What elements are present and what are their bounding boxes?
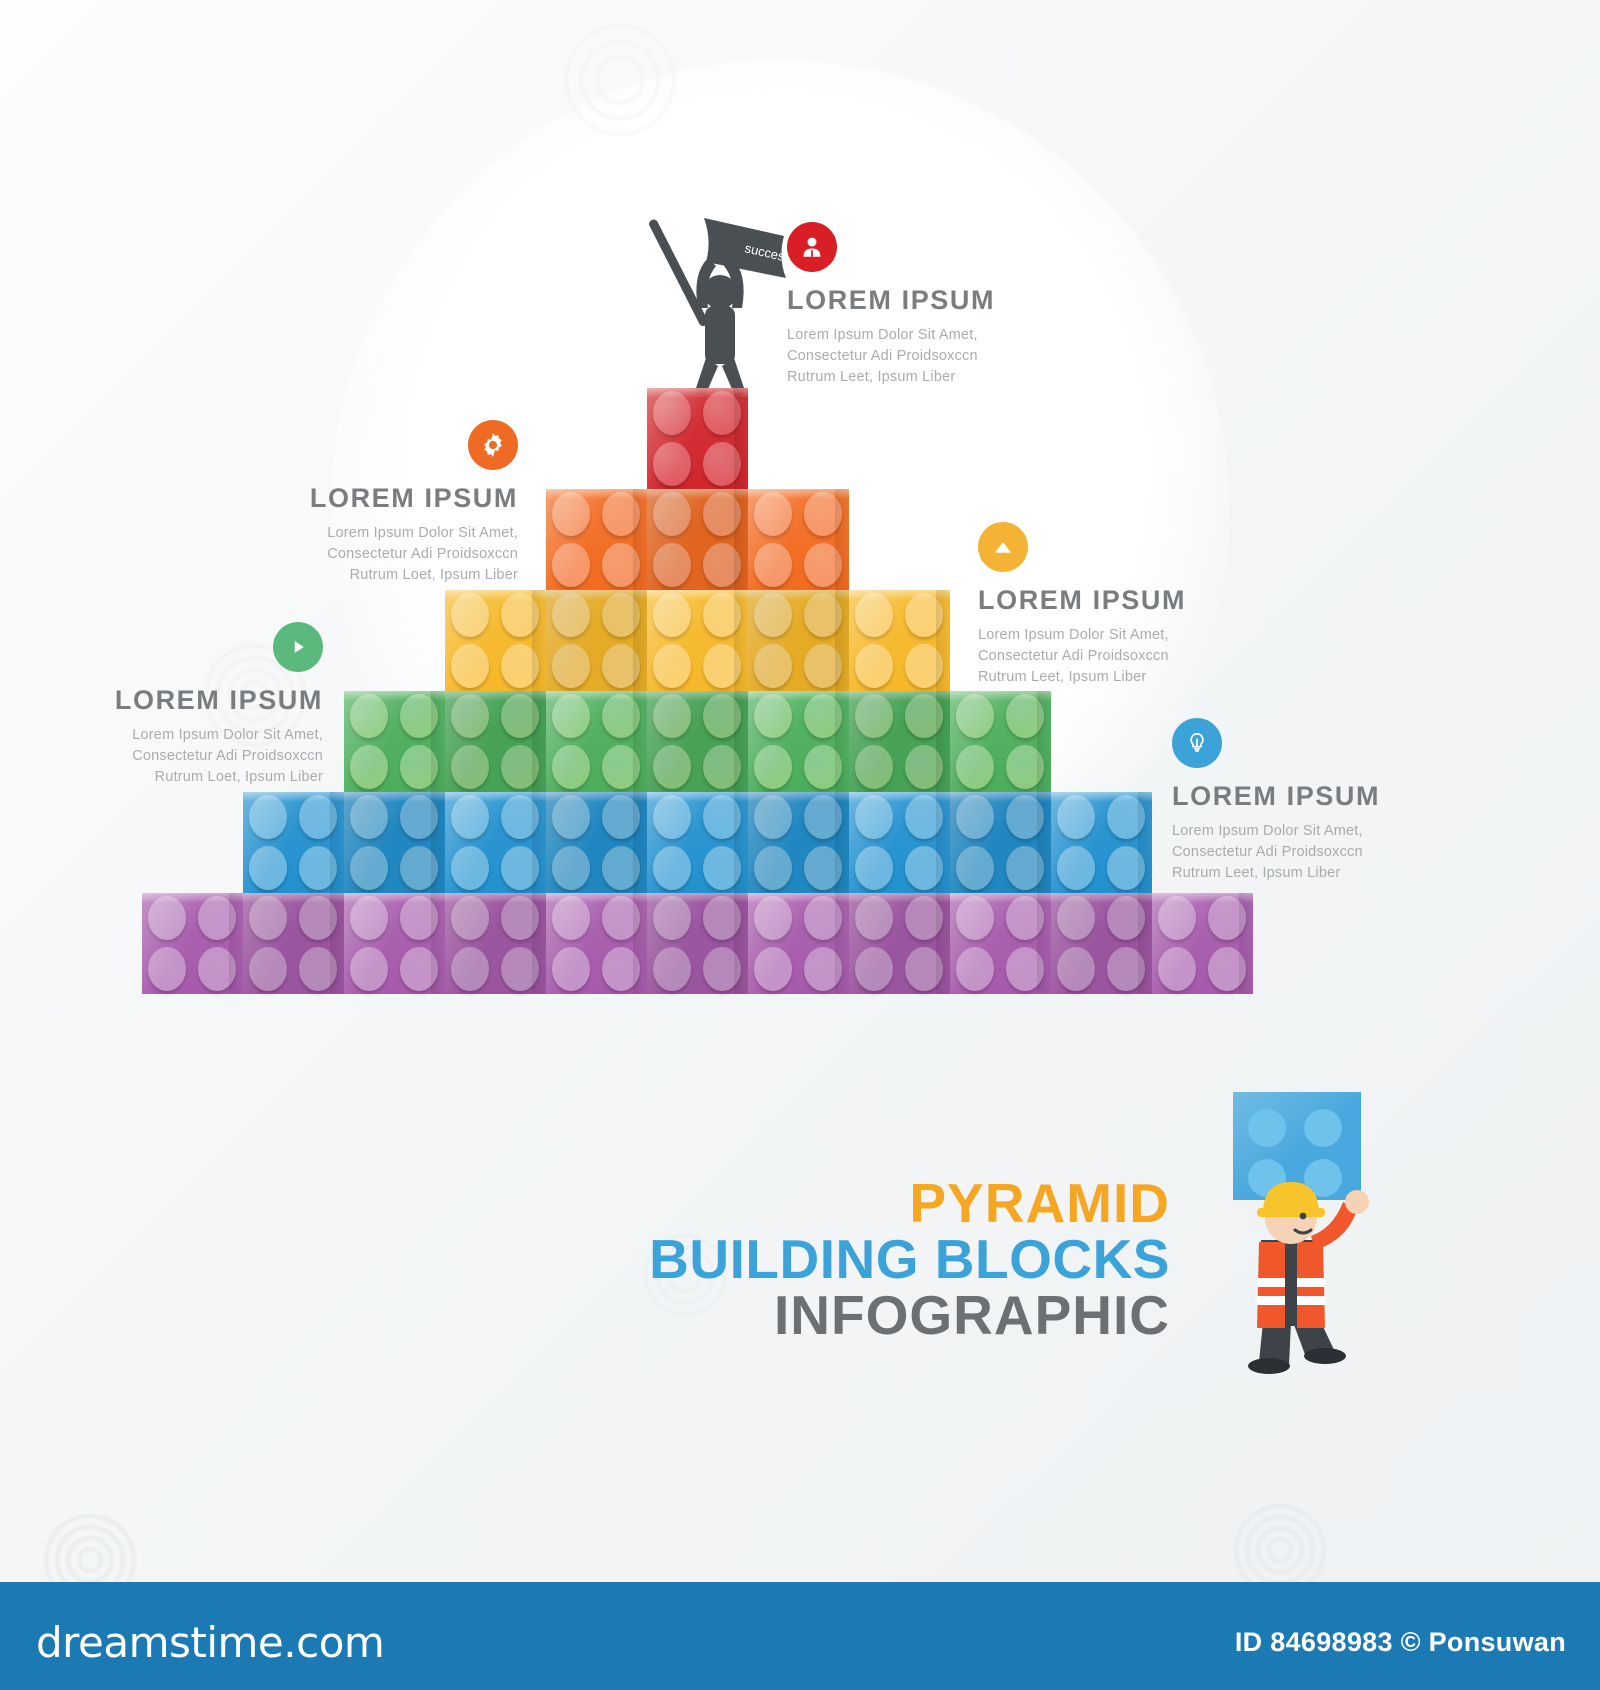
- brick-stud: [1057, 947, 1095, 991]
- title-block: PYRAMID BUILDING BLOCKS INFOGRAPHIC: [649, 1175, 1170, 1343]
- brick-stud: [350, 745, 388, 789]
- brick-edge: [734, 893, 748, 994]
- brick-edge: [633, 792, 647, 893]
- brick-stud: [249, 846, 287, 890]
- brick-edge: [633, 489, 647, 590]
- brick-edge: [532, 691, 546, 792]
- brick-stud: [754, 846, 792, 890]
- lego-brick[interactable]: [748, 590, 849, 691]
- brick-edge: [229, 893, 243, 994]
- lego-brick[interactable]: [950, 691, 1051, 792]
- brick-stud: [451, 745, 489, 789]
- lego-brick[interactable]: [647, 792, 748, 893]
- brick-top-lip: [950, 792, 1051, 802]
- lego-brick[interactable]: [950, 792, 1051, 893]
- callout-mid-right[interactable]: LOREM IPSUM Lorem Ipsum Dolor Sit Amet, …: [978, 522, 1196, 688]
- pyramid-row-3: [445, 590, 950, 691]
- brick-edge: [734, 388, 748, 489]
- person-icon: [787, 222, 837, 272]
- brick-edge: [633, 893, 647, 994]
- brick-top-lip: [849, 893, 950, 903]
- title-line-pyramid: PYRAMID: [649, 1175, 1170, 1231]
- callout-title: LOREM IPSUM: [787, 286, 1002, 316]
- title-line-building-blocks: BUILDING BLOCKS: [649, 1231, 1170, 1287]
- brick-stud: [653, 543, 691, 587]
- brick-stud: [653, 947, 691, 991]
- brick-stud: [956, 745, 994, 789]
- gear-icon: [468, 420, 518, 470]
- brick-stud: [451, 947, 489, 991]
- brick-stud: [451, 846, 489, 890]
- brick-edge: [431, 691, 445, 792]
- brick-edge: [431, 893, 445, 994]
- brick-edge: [936, 691, 950, 792]
- brick-top-lip: [950, 691, 1051, 701]
- lego-brick[interactable]: [445, 893, 546, 994]
- brick-edge: [835, 590, 849, 691]
- brick-top-lip: [546, 489, 647, 499]
- brick-stud: [552, 846, 590, 890]
- brick-top-lip: [647, 792, 748, 802]
- title-line-infographic: INFOGRAPHIC: [649, 1287, 1170, 1343]
- brick-top-lip: [950, 893, 1051, 903]
- lego-brick[interactable]: [445, 691, 546, 792]
- brick-stud: [451, 644, 489, 688]
- brick-stud: [956, 846, 994, 890]
- lego-brick[interactable]: [344, 893, 445, 994]
- lego-brick[interactable]: [950, 893, 1051, 994]
- lego-brick[interactable]: [344, 691, 445, 792]
- brick-edge: [532, 792, 546, 893]
- brick-top-lip: [849, 590, 950, 600]
- callout-body: Lorem Ipsum Dolor Sit Amet, Consectetur …: [1172, 821, 1390, 884]
- brick-edge: [734, 590, 748, 691]
- lego-brick[interactable]: [546, 691, 647, 792]
- brick-stud: [653, 644, 691, 688]
- brick-edge: [431, 792, 445, 893]
- callout-top-right[interactable]: LOREM IPSUM Lorem Ipsum Dolor Sit Amet, …: [787, 222, 1002, 388]
- lego-brick[interactable]: [546, 590, 647, 691]
- brick-stud: [653, 745, 691, 789]
- lego-brick[interactable]: [647, 893, 748, 994]
- lego-brick[interactable]: [849, 893, 950, 994]
- pyramid-row-1: [647, 388, 748, 489]
- brick-top-lip: [445, 893, 546, 903]
- brick-top-lip: [546, 792, 647, 802]
- brick-top-lip: [748, 792, 849, 802]
- dreamstime-logo[interactable]: dreamstime.com: [36, 1618, 384, 1667]
- lego-brick[interactable]: [344, 792, 445, 893]
- callout-title: LOREM IPSUM: [978, 586, 1196, 616]
- lego-brick[interactable]: [748, 691, 849, 792]
- brick-stud: [653, 846, 691, 890]
- brick-top-lip: [243, 893, 344, 903]
- brick-top-lip: [445, 590, 546, 600]
- brick-top-lip: [748, 590, 849, 600]
- brick-edge: [330, 792, 344, 893]
- lego-brick[interactable]: [647, 691, 748, 792]
- brick-edge: [330, 893, 344, 994]
- brick-edge: [835, 893, 849, 994]
- brick-edge: [633, 691, 647, 792]
- play-icon: [273, 622, 323, 672]
- callout-lower-right[interactable]: LOREM IPSUM Lorem Ipsum Dolor Sit Amet, …: [1172, 718, 1390, 884]
- callout-body: Lorem Ipsum Dolor Sit Amet, Consectetur …: [978, 625, 1196, 688]
- lightbulb-icon: [1172, 718, 1222, 768]
- pyramid-row-6: [142, 893, 1253, 994]
- lego-brick[interactable]: [243, 792, 344, 893]
- brick-stud: [552, 947, 590, 991]
- pyramid-row-2: [546, 489, 849, 590]
- brick-top-lip: [647, 691, 748, 701]
- lego-brick[interactable]: [546, 792, 647, 893]
- brick-stud: [350, 947, 388, 991]
- brick-edge: [633, 590, 647, 691]
- brick-edge: [1037, 691, 1051, 792]
- brick-edge: [1138, 792, 1152, 893]
- lego-brick[interactable]: [647, 489, 748, 590]
- brick-stud: [855, 947, 893, 991]
- brick-top-lip: [344, 893, 445, 903]
- brick-top-lip: [748, 691, 849, 701]
- brick-stud: [552, 745, 590, 789]
- brick-top-lip: [748, 893, 849, 903]
- brick-top-lip: [344, 792, 445, 802]
- lego-brick[interactable]: [1051, 893, 1152, 994]
- lego-brick[interactable]: [647, 388, 748, 489]
- lego-brick[interactable]: [849, 590, 950, 691]
- brick-top-lip: [546, 691, 647, 701]
- brick-stud: [754, 745, 792, 789]
- worker-illustration: [1215, 1090, 1390, 1375]
- brick-edge: [532, 590, 546, 691]
- brick-edge: [936, 590, 950, 691]
- lego-brick[interactable]: [445, 792, 546, 893]
- brick-stud: [1158, 947, 1196, 991]
- brick-stud: [754, 947, 792, 991]
- brick-top-lip: [546, 590, 647, 600]
- callout-title: LOREM IPSUM: [1172, 782, 1390, 812]
- brick-edge: [734, 691, 748, 792]
- lego-brick[interactable]: [243, 893, 344, 994]
- brick-edge: [734, 489, 748, 590]
- callout-body: Lorem Ipsum Dolor Sit Amet, Consectetur …: [105, 725, 323, 788]
- lego-brick[interactable]: [546, 893, 647, 994]
- brick-top-lip: [849, 691, 950, 701]
- brick-edge: [532, 893, 546, 994]
- pyramid-row-4: [344, 691, 1051, 792]
- callout-body: Lorem Ipsum Dolor Sit Amet, Consectetur …: [300, 523, 518, 586]
- lego-brick[interactable]: [445, 590, 546, 691]
- lego-brick[interactable]: [142, 893, 243, 994]
- lego-brick[interactable]: [748, 893, 849, 994]
- brick-stud: [754, 644, 792, 688]
- brick-top-lip: [546, 893, 647, 903]
- brick-stud: [855, 846, 893, 890]
- brick-top-lip: [647, 590, 748, 600]
- brick-top-lip: [445, 691, 546, 701]
- lego-brick[interactable]: [849, 691, 950, 792]
- brick-stud: [148, 947, 186, 991]
- lego-brick[interactable]: [849, 792, 950, 893]
- lego-brick[interactable]: [748, 792, 849, 893]
- footer-bar: dreamstime.com ID 84698983 © Ponsuwan: [0, 1582, 1600, 1690]
- brick-top-lip: [1152, 893, 1253, 903]
- lego-brick[interactable]: [647, 590, 748, 691]
- callout-title: LOREM IPSUM: [105, 686, 323, 716]
- lego-brick[interactable]: [546, 489, 647, 590]
- brick-stud: [350, 846, 388, 890]
- brick-stud: [855, 644, 893, 688]
- brick-edge: [936, 893, 950, 994]
- callout-title: LOREM IPSUM: [300, 484, 518, 514]
- brick-edge: [936, 792, 950, 893]
- brick-top-lip: [243, 792, 344, 802]
- infographic-canvas: success LOREM IPSUM Lorem Ipsum Dolor Si…: [0, 0, 1600, 1690]
- brick-stud: [956, 947, 994, 991]
- brick-edge: [1037, 893, 1051, 994]
- brick-top-lip: [647, 893, 748, 903]
- callout-upper-left[interactable]: LOREM IPSUM Lorem Ipsum Dolor Sit Amet, …: [300, 420, 518, 586]
- image-credit: ID 84698983 © Ponsuwan: [1235, 1627, 1566, 1658]
- brick-edge: [1138, 893, 1152, 994]
- brick-top-lip: [647, 489, 748, 499]
- brick-top-lip: [344, 691, 445, 701]
- brick-stud: [552, 543, 590, 587]
- brick-top-lip: [748, 489, 849, 499]
- brick-top-lip: [445, 792, 546, 802]
- brick-stud: [855, 745, 893, 789]
- brick-stud: [653, 442, 691, 486]
- lego-brick[interactable]: [1152, 893, 1253, 994]
- pyramid-row-5: [243, 792, 1152, 893]
- triangle-up-icon: [978, 522, 1028, 572]
- brick-top-lip: [142, 893, 243, 903]
- brick-stud: [1057, 846, 1095, 890]
- brick-edge: [835, 691, 849, 792]
- brick-top-lip: [647, 388, 748, 398]
- brick-top-lip: [1051, 792, 1152, 802]
- brick-top-lip: [849, 792, 950, 802]
- brick-stud: [249, 947, 287, 991]
- brick-edge: [1239, 893, 1253, 994]
- brick-top-lip: [1051, 893, 1152, 903]
- brick-stud: [754, 543, 792, 587]
- lego-brick[interactable]: [1051, 792, 1152, 893]
- brick-edge: [734, 792, 748, 893]
- lego-brick[interactable]: [748, 489, 849, 590]
- brick-edge: [1037, 792, 1051, 893]
- brick-stud: [552, 644, 590, 688]
- callout-lower-left[interactable]: LOREM IPSUM Lorem Ipsum Dolor Sit Amet, …: [105, 622, 323, 788]
- brick-edge: [835, 792, 849, 893]
- callout-body: Lorem Ipsum Dolor Sit Amet, Consectetur …: [787, 325, 1002, 388]
- brick-edge: [835, 489, 849, 590]
